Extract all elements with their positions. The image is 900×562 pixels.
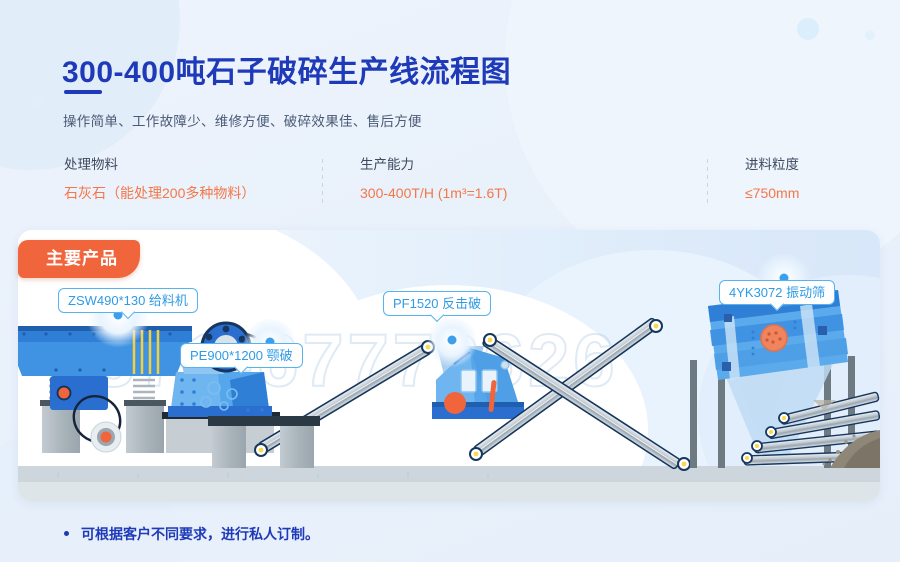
- spec-list: 处理物料 石灰石（能处理200多种物料） 生产能力 300-400T/H (1m…: [0, 155, 900, 210]
- spec-label: 生产能力: [360, 155, 507, 175]
- spec-divider-2: [707, 159, 708, 203]
- main-products-badge: 主要产品: [18, 240, 140, 278]
- bullet-icon: [64, 531, 69, 536]
- machinery-illustration: [18, 230, 880, 502]
- label-pe-jaw-crusher[interactable]: PE900*1200 颚破: [180, 343, 303, 368]
- page-title: 300-400吨石子破碎生产线流程图: [62, 47, 511, 91]
- header-section: 300-400吨石子破碎生产线流程图 操作简单、工作故障少、维修方便、破碎效果佳…: [0, 0, 900, 225]
- spec-value: 石灰石（能处理200多种物料）: [64, 183, 255, 203]
- label-zsw-feeder[interactable]: ZSW490*130 给料机: [58, 288, 198, 313]
- spec-divider-1: [322, 159, 323, 203]
- spec-label: 处理物料: [64, 155, 255, 175]
- diagram-card: 0371-67772626: [18, 230, 880, 502]
- spec-item-material: 处理物料 石灰石（能处理200多种物料）: [64, 155, 255, 203]
- flow-chart-poster: 300-400吨石子破碎生产线流程图 操作简单、工作故障少、维修方便、破碎效果佳…: [0, 0, 900, 562]
- spec-label: 进料粒度: [745, 155, 799, 175]
- label-4yk-vibrating-screen[interactable]: 4YK3072 振动筛: [719, 280, 835, 305]
- page-subtitle: 操作简单、工作故障少、维修方便、破碎效果佳、售后方便: [63, 110, 422, 130]
- title-underline: [64, 90, 102, 94]
- label-pf-impact-crusher[interactable]: PF1520 反击破: [383, 291, 491, 316]
- spec-value: 300-400T/H (1m³=1.6T): [360, 183, 507, 203]
- spec-item-capacity: 生产能力 300-400T/H (1m³=1.6T): [360, 155, 507, 203]
- footnote: 可根据客户不同要求，进行私人订制。: [64, 524, 319, 544]
- spec-item-feed-size: 进料粒度 ≤750mm: [745, 155, 799, 203]
- spec-value: ≤750mm: [745, 183, 799, 203]
- footnote-text: 可根据客户不同要求，进行私人订制。: [81, 526, 319, 542]
